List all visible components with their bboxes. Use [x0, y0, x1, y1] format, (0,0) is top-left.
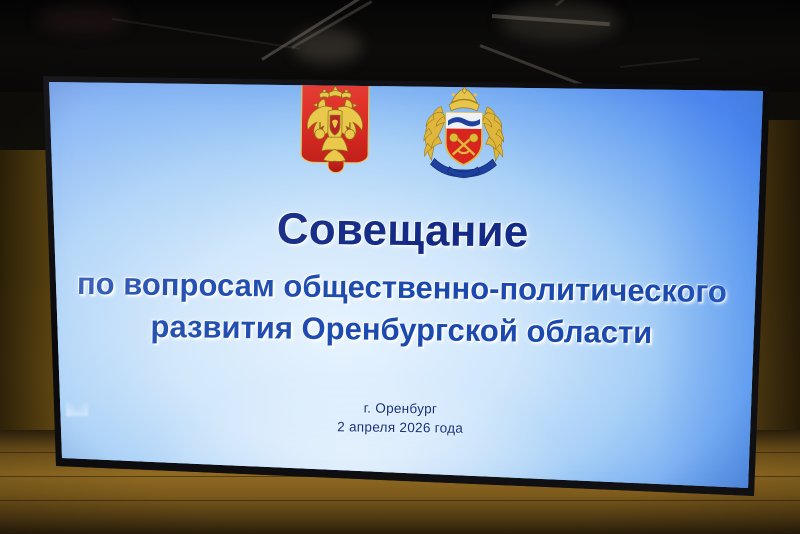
television[interactable]: Совещание по вопросам общественно-полити…	[26, 58, 778, 506]
photo-scene: Совещание по вопросам общественно-полити…	[0, 0, 800, 534]
ceiling-beam	[112, 18, 300, 50]
coat-of-arms-russian-federation-icon	[294, 79, 375, 178]
double-headed-eagle-icon	[294, 79, 375, 178]
coat-of-arms-orenburg-oblast-icon	[414, 80, 513, 185]
slide-title: Совещание	[26, 201, 778, 260]
slide-subtitle-line-2: развития Оренбургской области	[26, 307, 778, 352]
tv-screen[interactable]: Совещание по вопросам общественно-полити…	[26, 58, 778, 506]
orenburg-emblem-icon	[414, 80, 513, 185]
ceiling-beam	[620, 58, 700, 68]
slide-subtitle-line-1: по вопросам общественно-политического	[26, 265, 778, 310]
presentation-slide: Совещание по вопросам общественно-полити…	[26, 58, 778, 506]
emblem-row	[27, 75, 778, 188]
